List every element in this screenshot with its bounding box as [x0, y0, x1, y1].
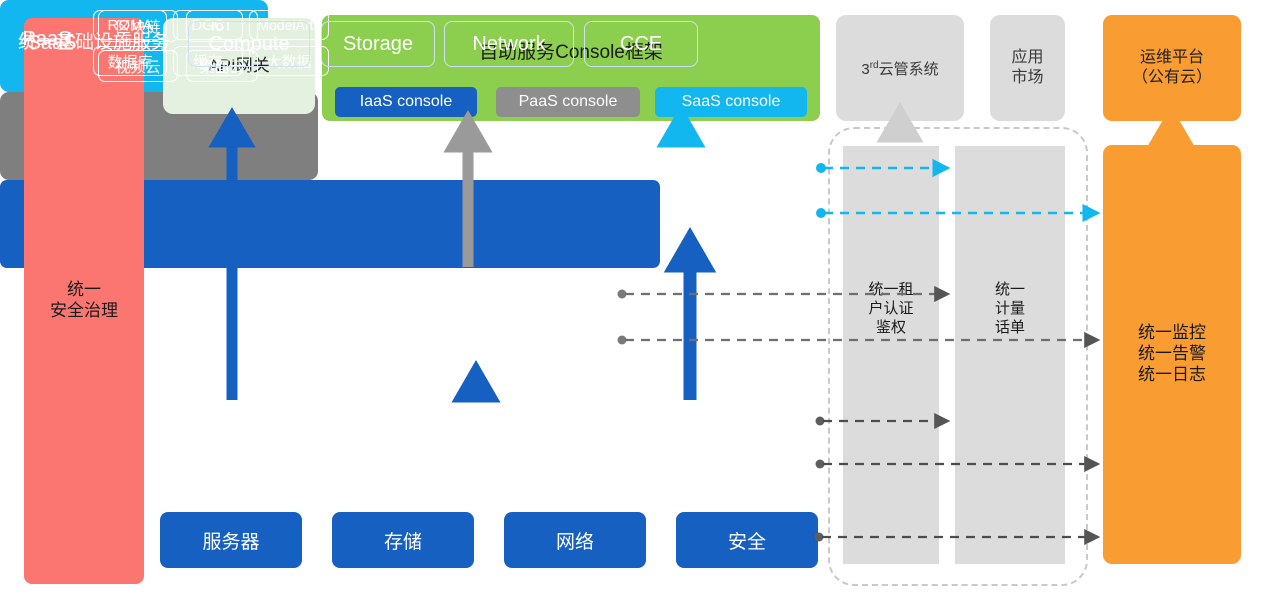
architecture-diagram: 统一 安全治理 API网关 自助服务Console框架 IaaS console…	[0, 0, 1265, 605]
unified-infrastructure-label: 统一基础设施服务	[18, 27, 170, 54]
arrow-infra-to-paas	[461, 371, 491, 400]
arrow-infra-to-saas	[675, 240, 705, 400]
iaas-console-chip[interactable]: IaaS console	[335, 87, 477, 117]
unified-metering-label: 统一 计量 话单	[955, 281, 1065, 337]
resource-security-box[interactable]: 安全	[676, 512, 818, 568]
third-party-cloud-management-box: 3rd云管系统	[836, 15, 964, 121]
infra-service-storage[interactable]: Storage	[321, 21, 435, 67]
app-market-label: 应用 市场	[1011, 48, 1043, 87]
paas-console-chip[interactable]: PaaS console	[496, 87, 640, 117]
resource-server-box[interactable]: 服务器	[160, 512, 302, 568]
unified-tenant-auth-column	[843, 146, 939, 564]
unified-monitoring-label: 统一监控 统一告警 统一日志	[1138, 323, 1206, 385]
unified-security-governance-panel: 统一 安全治理	[24, 18, 144, 584]
ops-platform-public-cloud-box: 运维平台 （公有云）	[1103, 15, 1241, 121]
unified-security-governance-label: 统一 安全治理	[50, 280, 118, 321]
app-market-box: 应用 市场	[990, 15, 1065, 121]
arrow-ops-panel-to-ops-top	[1157, 117, 1185, 145]
resource-storage-box[interactable]: 存储	[332, 512, 474, 568]
unified-metering-column	[955, 146, 1065, 564]
saas-console-chip[interactable]: SaaS console	[655, 87, 807, 117]
infra-service-compute[interactable]: Compute	[188, 21, 310, 67]
third-party-cloud-management-label: 3rd云管系统	[861, 58, 938, 79]
unified-tenant-auth-label: 统一租 户认证 鉴权	[843, 281, 939, 337]
unified-monitoring-panel: 统一监控 统一告警 统一日志	[1103, 145, 1241, 564]
ops-platform-public-cloud-label: 运维平台 （公有云）	[1132, 48, 1212, 87]
infra-service-cce[interactable]: CCE	[584, 21, 698, 67]
resource-network-box[interactable]: 网络	[504, 512, 646, 568]
infra-service-network[interactable]: Network	[444, 21, 574, 67]
